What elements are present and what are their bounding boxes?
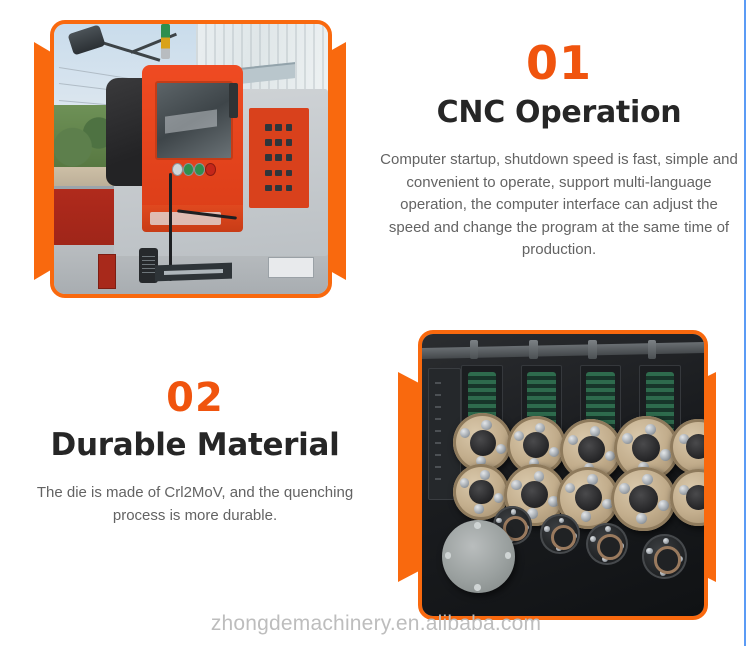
round-cover-plate — [442, 520, 515, 593]
feature-1-number: 01 — [378, 40, 740, 86]
feature-2-text-column: 02 Durable Material The die is made of C… — [14, 378, 376, 527]
right-edge-line — [744, 0, 746, 646]
feature-image-1-frame — [50, 20, 332, 298]
feature-1-text-column: 01 CNC Operation Computer startup, shutd… — [378, 40, 740, 262]
watermark-url: zhongdemachinery.en.alibaba.com — [0, 612, 752, 636]
feature-1-title: CNC Operation — [378, 96, 740, 129]
feature-image-2-frame — [418, 330, 708, 620]
roller-die-photo — [422, 334, 704, 616]
cnc-machine-photo — [54, 24, 328, 294]
feature-1-description: Computer startup, shutdown speed is fast… — [378, 149, 740, 262]
machine-vent-grid — [249, 108, 309, 208]
feature-panel-page: 01 CNC Operation Computer startup, shutd… — [0, 0, 752, 646]
feature-2-title: Durable Material — [14, 428, 376, 462]
machine-button-row — [172, 164, 216, 175]
signal-tower-light — [161, 24, 171, 59]
feature-2-number: 02 — [14, 378, 376, 418]
feature-image-2-block — [396, 326, 720, 626]
feature-2-description: The die is made of Crl2MoV, and the quen… — [14, 482, 376, 527]
feature-image-1-block — [26, 14, 346, 304]
